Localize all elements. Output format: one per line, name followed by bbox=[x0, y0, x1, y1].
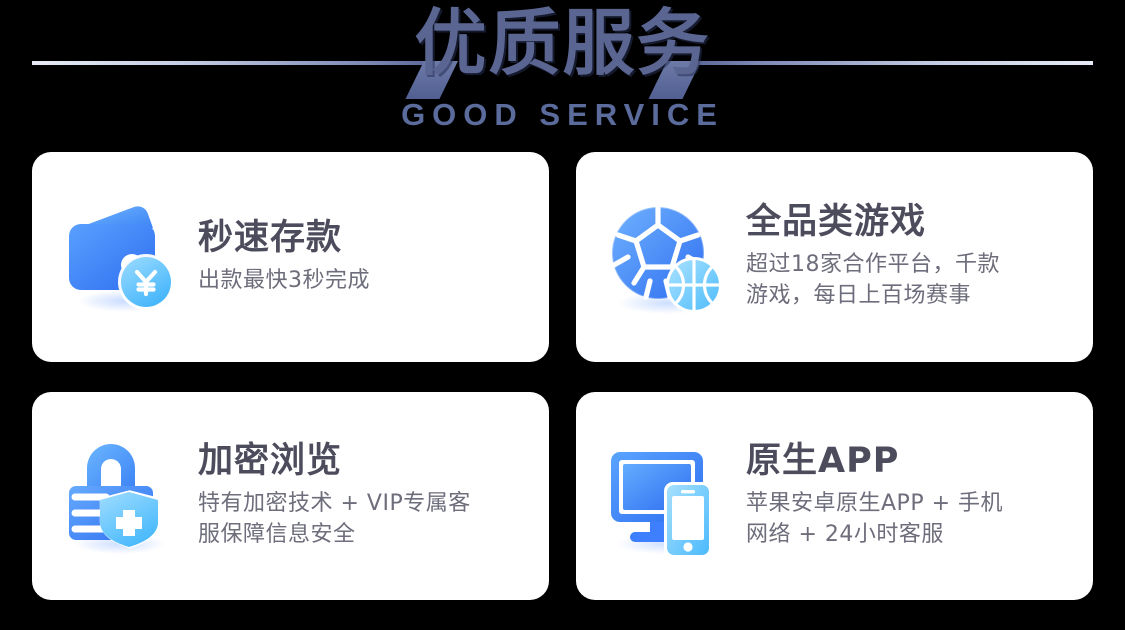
card-description: 超过18家合作平台，千款 游戏，每日上百场赛事 bbox=[746, 249, 1071, 311]
card-text-block: 原生APP 苹果安卓原生APP + 手机 网络 + 24小时客服 bbox=[730, 441, 1071, 550]
feature-card-native-app[interactable]: 原生APP 苹果安卓原生APP + 手机 网络 + 24小时客服 bbox=[576, 392, 1093, 600]
page-title: 优质服务 bbox=[0, 7, 1125, 80]
card-title: 全品类游戏 bbox=[746, 202, 1071, 243]
card-description: 苹果安卓原生APP + 手机 网络 + 24小时客服 bbox=[746, 488, 1071, 550]
feature-card-deposit[interactable]: 秒速存款 出款最快3秒完成 bbox=[32, 152, 549, 362]
card-text-block: 全品类游戏 超过18家合作平台，千款 游戏，每日上百场赛事 bbox=[730, 202, 1071, 311]
banner-header: 优质服务 GOOD SERVICE bbox=[0, 0, 1125, 150]
card-title: 原生APP bbox=[746, 441, 1071, 482]
feature-card-grid: 秒速存款 出款最快3秒完成 bbox=[32, 152, 1093, 600]
feature-card-encryption[interactable]: 加密浏览 特有加密技术 + VIP专属客 服保障信息安全 bbox=[32, 392, 549, 600]
card-title: 加密浏览 bbox=[198, 441, 527, 482]
card-title: 秒速存款 bbox=[198, 218, 527, 259]
wallet-yen-icon bbox=[58, 193, 186, 321]
card-text-block: 加密浏览 特有加密技术 + VIP专属客 服保障信息安全 bbox=[186, 441, 527, 550]
card-description: 特有加密技术 + VIP专属客 服保障信息安全 bbox=[198, 488, 527, 550]
monitor-phone-icon bbox=[602, 432, 730, 560]
card-text-block: 秒速存款 出款最快3秒完成 bbox=[186, 218, 527, 296]
lock-shield-icon bbox=[58, 432, 186, 560]
page-subtitle: GOOD SERVICE bbox=[0, 97, 1125, 133]
soccer-basketball-icon bbox=[602, 193, 730, 321]
promo-banner: 优质服务 GOOD SERVICE bbox=[0, 0, 1125, 630]
feature-card-games[interactable]: 全品类游戏 超过18家合作平台，千款 游戏，每日上百场赛事 bbox=[576, 152, 1093, 362]
card-description: 出款最快3秒完成 bbox=[198, 265, 527, 296]
